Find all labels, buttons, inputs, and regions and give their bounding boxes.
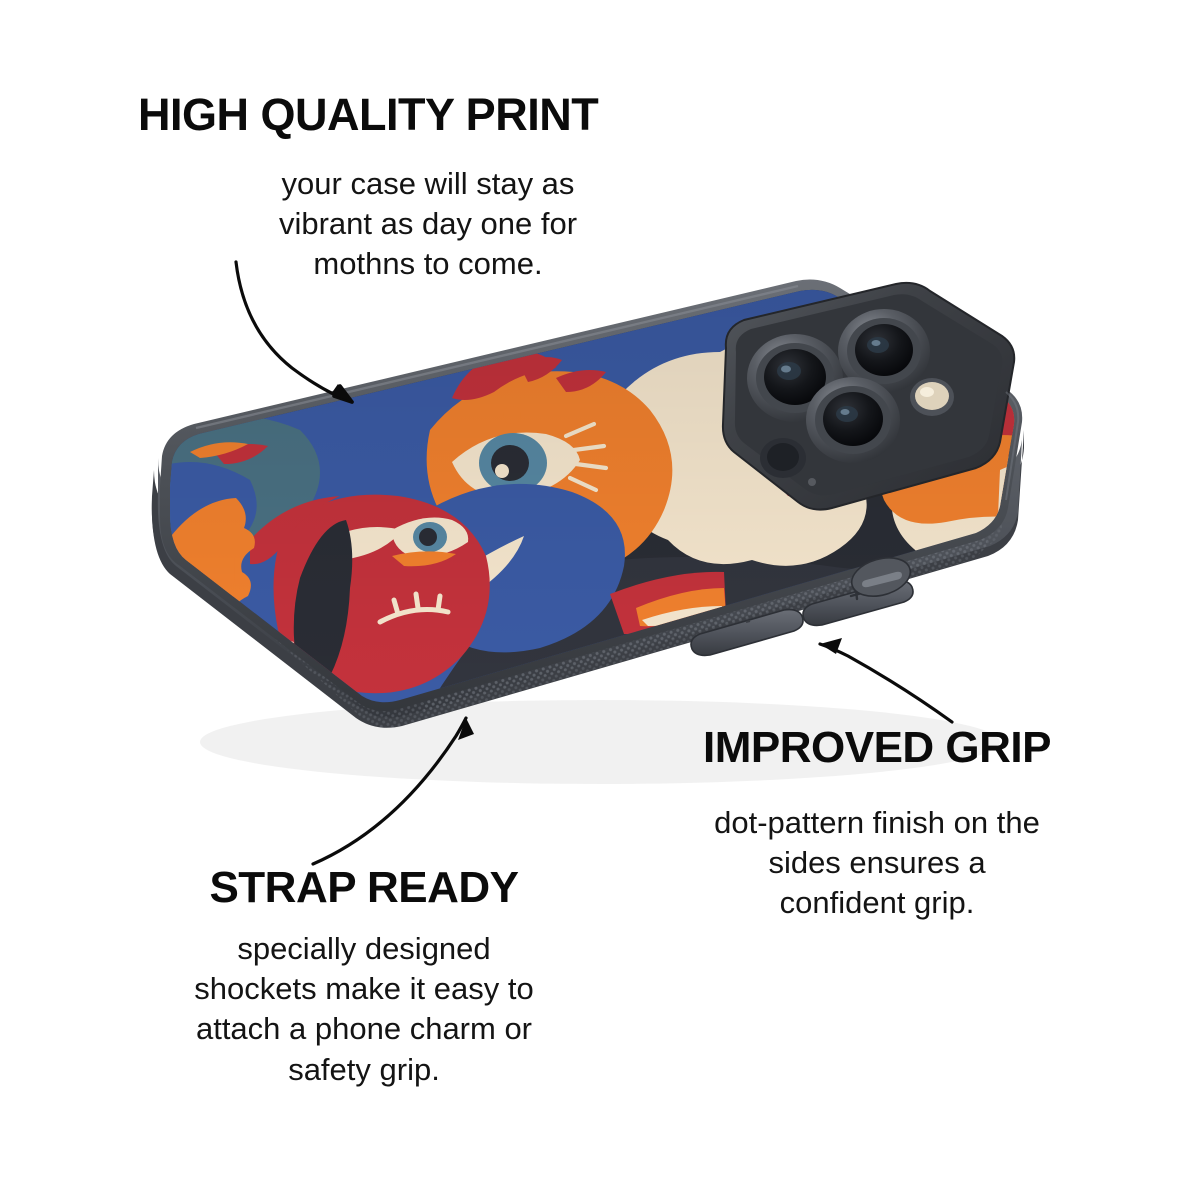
camera-lens-3 <box>806 377 900 463</box>
callout-body-grip: dot-pattern finish on the sides ensures … <box>662 803 1092 924</box>
print-line-3: mothns to come. <box>178 244 678 284</box>
strap-line-4: safety grip. <box>104 1050 624 1090</box>
print-line-2: vibrant as day one for <box>178 204 678 244</box>
microphone-icon <box>808 478 816 486</box>
callout-body-strap: specially designed shockets make it easy… <box>104 929 624 1090</box>
strap-line-1: specially designed <box>104 929 624 969</box>
callout-high-quality-print: HIGH QUALITY PRINT your case will stay a… <box>138 92 678 285</box>
infographic-stage: HIGH QUALITY PRINT your case will stay a… <box>0 0 1200 1200</box>
grip-line-2: sides ensures a <box>662 843 1092 883</box>
strap-line-3: attach a phone charm or <box>104 1009 624 1049</box>
camera-flash-icon <box>910 378 954 416</box>
callout-heading-print: HIGH QUALITY PRINT <box>138 92 678 138</box>
print-line-1: your case will stay as <box>178 164 678 204</box>
callout-heading-strap: STRAP READY <box>104 866 624 911</box>
callout-strap-ready: STRAP READY specially designed shockets … <box>104 866 624 1090</box>
callout-body-print: your case will stay as vibrant as day on… <box>138 164 678 285</box>
grip-line-3: confident grip. <box>662 883 1092 923</box>
callout-improved-grip: IMPROVED GRIP dot-pattern finish on the … <box>662 726 1092 924</box>
strap-line-2: shockets make it easy to <box>104 969 624 1009</box>
grip-line-1: dot-pattern finish on the <box>662 803 1092 843</box>
callout-heading-grip: IMPROVED GRIP <box>662 726 1092 771</box>
lidar-sensor-icon <box>760 438 806 478</box>
